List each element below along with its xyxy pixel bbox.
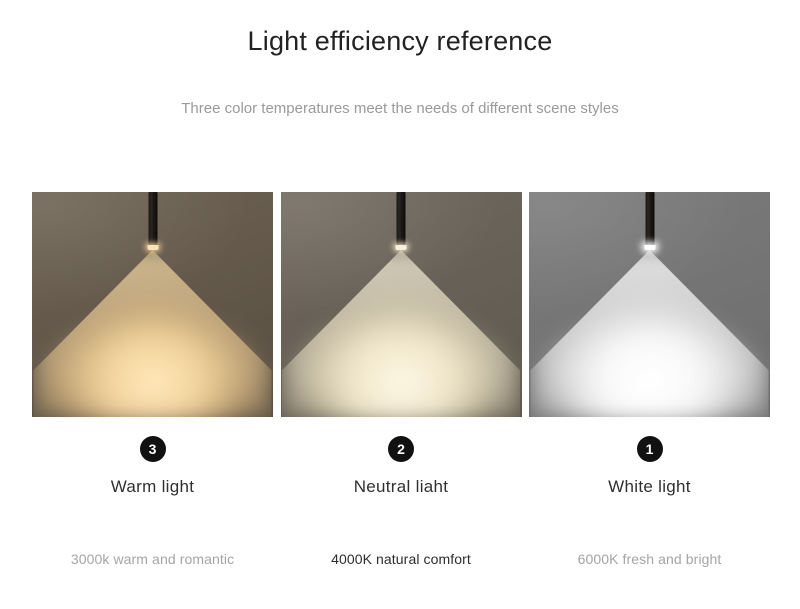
lamp-emitter-icon [147, 245, 158, 250]
light-card-badge: 3 [140, 436, 166, 462]
lamp-emitter-icon [396, 245, 407, 250]
page-header: Light efficiency reference Three color t… [0, 0, 800, 119]
light-photo-neutral [281, 192, 522, 417]
light-card-row: 3 Warm light 3000k warm and romantic 2 N… [32, 192, 770, 568]
light-card-spec: 4000K natural comfort [281, 550, 522, 568]
light-beam-cone [34, 250, 272, 417]
lamp-emitter-icon [644, 245, 655, 250]
light-beam-cone [531, 250, 769, 417]
light-card-warm[interactable]: 3 Warm light 3000k warm and romantic [32, 192, 273, 568]
light-card-neutral[interactable]: 2 Neutral liaht 4000K natural comfort [281, 192, 522, 568]
light-card-badge: 2 [388, 436, 414, 462]
light-card-name: Neutral liaht [281, 476, 522, 498]
light-efficiency-page: Light efficiency reference Three color t… [0, 0, 800, 609]
page-title: Light efficiency reference [0, 24, 800, 58]
light-card-white[interactable]: 1 White light 6000K fresh and bright [529, 192, 770, 568]
pendant-spotlight-icon [645, 192, 654, 248]
light-card-spec: 6000K fresh and bright [529, 550, 770, 568]
light-photo-warm [32, 192, 273, 417]
light-beam-cone [282, 250, 520, 417]
light-card-badge: 1 [637, 436, 663, 462]
light-card-spec: 3000k warm and romantic [32, 550, 273, 568]
light-card-name: Warm light [32, 476, 273, 498]
page-subtitle: Three color temperatures meet the needs … [0, 58, 800, 119]
pendant-spotlight-icon [397, 192, 406, 248]
light-photo-white [529, 192, 770, 417]
pendant-spotlight-icon [148, 192, 157, 248]
light-card-name: White light [529, 476, 770, 498]
